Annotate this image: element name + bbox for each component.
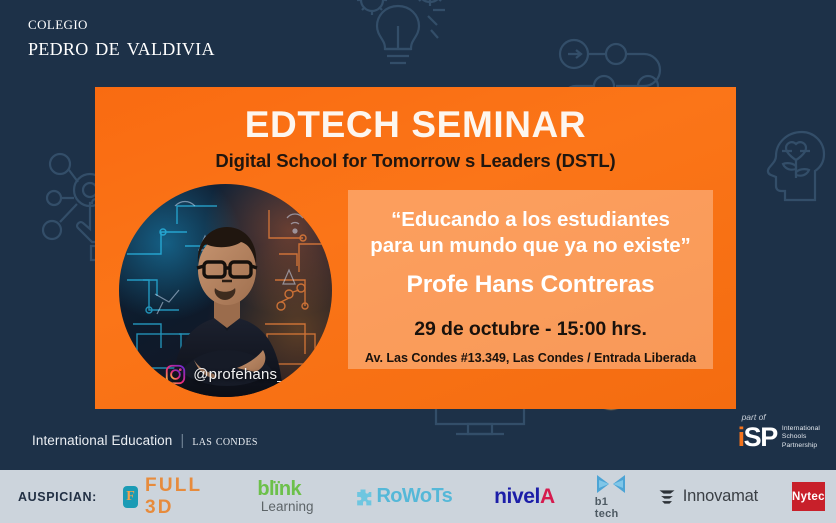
speaker-name: Profe Hans Contreras <box>348 271 713 299</box>
nivela-label: nivelA <box>494 485 555 509</box>
stack-icon <box>657 487 677 507</box>
event-banner: EDTECH SEMINAR Digital School for Tomorr… <box>95 87 736 409</box>
isp-logo: part of iSP International Schools Partne… <box>738 412 820 451</box>
speaker-portrait: @profehans_ <box>119 184 332 397</box>
sponsor-nytec[interactable]: Nytec <box>792 482 825 511</box>
b1-tech-label: b1 tech <box>595 496 627 520</box>
intl-education-label: International Education <box>32 433 172 448</box>
learning-label: Learning <box>261 500 314 514</box>
quote-panel: “Educando a los estudiantes para un mund… <box>348 190 713 369</box>
instagram-row[interactable]: @profehans_ <box>119 364 332 385</box>
isp-logo-main: iSP International Schools Partnership <box>738 424 820 451</box>
isp-mark-sp: SP <box>744 422 777 452</box>
event-address: Av. Las Condes #13.349, Las Condes / Ent… <box>348 351 713 365</box>
isp-word-2: Schools <box>782 433 820 442</box>
school-logo: Colegio Pedro de Valdivia <box>28 14 215 61</box>
sponsor-full-3d[interactable]: F FULL 3D <box>123 475 209 519</box>
isp-wordmark: iSP <box>738 424 777 451</box>
rowots-label: RoWoTs <box>376 485 452 508</box>
quote-line-2: para un mundo que ya no existe” <box>348 234 713 258</box>
sponsor-b1-tech[interactable]: b1 tech <box>595 473 627 520</box>
school-logo-line2: Pedro de Valdivia <box>28 34 215 61</box>
nivela-prefix: nivel <box>494 485 540 508</box>
sponsor-innovamat[interactable]: Innovamat <box>657 487 758 507</box>
event-datetime: 29 de octubre - 15:00 hrs. <box>348 318 713 341</box>
butterfly-icon <box>595 473 627 495</box>
puzzle-icon <box>353 487 373 507</box>
campus-label: Las Condes <box>192 434 257 450</box>
quote-line-1: “Educando a los estudiantes <box>348 208 713 232</box>
instagram-icon[interactable] <box>165 364 186 385</box>
instagram-handle[interactable]: @profehans_ <box>193 366 286 383</box>
sponsor-nivela[interactable]: nivelA <box>494 485 555 509</box>
sponsor-blink-learning[interactable]: blïnk Learning <box>245 479 314 514</box>
nivela-suffix: A <box>540 485 555 508</box>
blink-label: blïnk <box>257 479 301 499</box>
poster-root: Colegio Pedro de Valdivia EDTECH SEMINAR… <box>0 0 836 523</box>
sponsors-label: AUSPICIAN: <box>18 490 97 504</box>
sponsor-rowots[interactable]: RoWoTs <box>353 485 452 508</box>
sponsors-bar: AUSPICIAN: F FULL 3D blïnk Learning RoW… <box>0 470 836 523</box>
isp-part-of-label: part of <box>742 412 820 422</box>
full-3d-badge-icon: F <box>123 486 138 508</box>
isp-tagline: International Schools Partnership <box>782 425 820 451</box>
page-title: EDTECH SEMINAR <box>95 104 736 146</box>
full-3d-label: FULL 3D <box>145 475 209 519</box>
school-logo-line1: Colegio <box>28 14 215 33</box>
footer-separator: | <box>180 432 184 449</box>
lightbulb-gears-icon <box>336 0 466 98</box>
isp-word-3: Partnership <box>782 442 820 451</box>
innovamat-label: Innovamat <box>683 487 758 506</box>
head-heart-icon <box>752 126 828 202</box>
nytec-label: Nytec <box>792 491 825 503</box>
international-education-footer: International Education | Las Condes <box>32 432 258 450</box>
banner-subtitle: Digital School for Tomorrow s Leaders (D… <box>95 150 736 172</box>
isp-word-1: International <box>782 425 820 434</box>
